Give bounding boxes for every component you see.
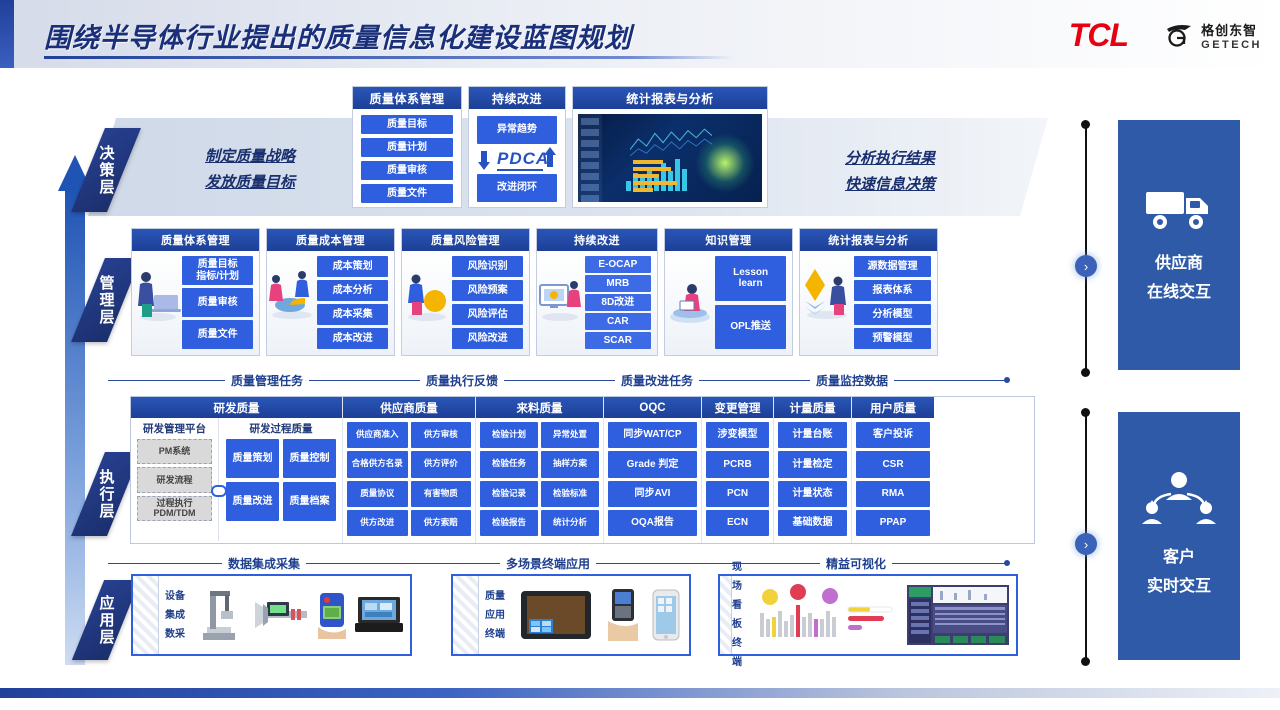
mgmt-chip[interactable]: OPL推送: [715, 305, 786, 350]
exec-gray-item[interactable]: 研发流程: [137, 467, 212, 492]
exec-col-oqc[interactable]: OQC 同步WAT/CP Grade 判定 同步AVI OQA报告: [604, 397, 702, 543]
exec-col-2-title: 供应商质量: [343, 397, 475, 418]
bottom-rail-end-dot: [1004, 560, 1010, 566]
execution-panel: 研发质量 研发管理平台 PM系统 研发流程 过程执行 PDM/TDM 研发过程质…: [130, 396, 1035, 544]
exec-chip[interactable]: PCN: [706, 481, 769, 507]
exec-chip[interactable]: PPAP: [856, 510, 930, 536]
mgmt-chip[interactable]: 质量文件: [182, 320, 253, 349]
laptop-device-icon: [354, 595, 404, 635]
decision-card-2-title: 持续改进: [469, 87, 565, 109]
getech-cn-label: 格创东智: [1201, 20, 1262, 39]
pdca-label: PDCA: [497, 149, 549, 169]
mgmt-chip[interactable]: 8D改进: [585, 294, 651, 311]
mgmt-card-knowledge[interactable]: 知识管理 Lesson learn OPL推送: [664, 228, 793, 356]
mgmt-chip[interactable]: MRB: [585, 275, 651, 292]
mid-rail-label: 质量管理任务: [225, 372, 309, 389]
app-box-1-label: 设备 集成 数采: [159, 576, 191, 654]
app-label-line: 设备: [165, 587, 185, 606]
exec-chip[interactable]: 计量检定: [778, 451, 847, 477]
cmm-machine-icon: [197, 587, 243, 643]
mgmt-chip[interactable]: 预警模型: [854, 328, 931, 349]
exec-col-user-quality[interactable]: 用户质量 客户投诉 CSR RMA PPAP: [852, 397, 934, 543]
right-rail-chevron-top[interactable]: ›: [1075, 255, 1097, 277]
decision-right-line1: 分析执行结果: [845, 150, 935, 167]
mgmt-card-6-title: 统计报表与分析: [800, 229, 937, 251]
exec-chip[interactable]: OQA报告: [608, 510, 697, 536]
decision-chip[interactable]: 质量目标: [361, 115, 453, 134]
exec-chip[interactable]: 异常处置: [541, 422, 599, 448]
exec-chip[interactable]: 检验报告: [480, 510, 538, 536]
exec-chip[interactable]: 检验计划: [480, 422, 538, 448]
app-box-device-integration[interactable]: 设备 集成 数采: [131, 574, 412, 656]
app-label-line: 现场: [732, 558, 746, 596]
slide-root: 围绕半导体行业提出的质量信息化建设蓝图规划 TCL 格创东智 GETECH 决策…: [0, 0, 1280, 710]
layer-label-management-text: 管理层: [98, 275, 114, 326]
mid-rail-end-dot: [1004, 377, 1010, 383]
exec-chip[interactable]: 供方改进: [347, 510, 408, 536]
handheld-tester-icon: [314, 591, 350, 639]
mgmt-chip[interactable]: 风险识别: [452, 256, 523, 277]
exec-chip[interactable]: 检验记录: [480, 481, 538, 507]
mgmt-chip[interactable]: 成本分析: [317, 280, 388, 301]
pdca-arrow-down-head: [478, 162, 490, 170]
mgmt-chip[interactable]: 成本改进: [317, 328, 388, 349]
decision-card-statistics-analysis[interactable]: 统计报表与分析: [572, 86, 768, 208]
right-panel-customer-text: 客户 实时交互: [1147, 544, 1211, 602]
mid-rail-label: 质量执行反馈: [420, 372, 504, 389]
decision-card-continuous-improvement[interactable]: 持续改进 异常趋势 改进闭环 PDCA: [468, 86, 566, 208]
right-panel-line2: 在线交互: [1147, 279, 1211, 308]
exec-chip[interactable]: 质量策划: [226, 439, 279, 478]
exec-col-7-title: 用户质量: [852, 397, 934, 418]
exec-chip[interactable]: 质量协议: [347, 481, 408, 507]
mgmt-chip[interactable]: 成本策划: [317, 256, 388, 277]
app-stripe: [133, 576, 159, 654]
decision-left-text: 制定质量战略 发放质量目标: [150, 144, 350, 195]
footer-white-strip: [0, 698, 1280, 710]
exec-chip[interactable]: 同步AVI: [608, 481, 697, 507]
decision-left-line2: 发放质量目标: [205, 174, 295, 191]
app-label-line: 应用: [485, 606, 505, 625]
app-label-line: 终端: [732, 634, 746, 672]
exec-chip[interactable]: PCRB: [706, 451, 769, 477]
people-network-icon: [1138, 470, 1220, 530]
mgmt-chip[interactable]: 分析模型: [854, 304, 931, 325]
exec-gray-item[interactable]: PM系统: [137, 439, 212, 464]
bar-chart-dashboard-icon: [752, 583, 902, 647]
exec-chip[interactable]: 检验标准: [541, 481, 599, 507]
exec-chip[interactable]: 供方审核: [411, 422, 472, 448]
mgmt-card-1-title: 质量体系管理: [132, 229, 259, 251]
exec-col-6-title: 计量质量: [774, 397, 851, 418]
bottom-rail-label: 多场景终端应用: [500, 555, 596, 572]
exec-col-5-title: 变更管理: [702, 397, 773, 418]
page-header: 围绕半导体行业提出的质量信息化建设蓝图规划 TCL 格创东智 GETECH: [0, 0, 1280, 68]
right-panel-line1: 客户: [1147, 544, 1211, 573]
exec-chip[interactable]: 质量改进: [226, 482, 279, 521]
mgmt-chip[interactable]: 风险评估: [452, 304, 523, 325]
diamond-layers-icon: [800, 251, 852, 355]
exec-sub-left-title: 研发管理平台: [131, 418, 218, 438]
tcl-logo: TCL: [1069, 17, 1128, 54]
right-rail-dot: [1081, 368, 1090, 377]
right-panel-line2: 实时交互: [1147, 573, 1211, 602]
exec-col-4-title: OQC: [604, 397, 701, 418]
exec-col-3-title: 来料质量: [476, 397, 603, 418]
mgmt-chip[interactable]: 成本采集: [317, 304, 388, 325]
app-box-3-label: 现场 看板 终端: [732, 576, 746, 654]
exec-chip[interactable]: 质量控制: [283, 439, 336, 478]
app-stripe: [720, 576, 732, 654]
right-rail-dot: [1081, 657, 1090, 666]
barcode-scanner-icon: [602, 587, 642, 643]
exec-col-1-title: 研发质量: [131, 397, 342, 418]
exec-chip[interactable]: 合格供方名录: [347, 451, 408, 477]
layer-label-execution-text: 执行层: [98, 469, 114, 520]
decision-right-line2: 快速信息决策: [845, 176, 935, 193]
decision-left-line1: 制定质量战略: [205, 148, 295, 165]
app-label-line: 终端: [485, 625, 505, 644]
exec-chip[interactable]: 计量台账: [778, 422, 847, 448]
mgmt-chip[interactable]: 质量目标 指标/计划: [182, 256, 253, 285]
mgmt-chip[interactable]: SCAR: [585, 332, 651, 349]
exec-chip[interactable]: RMA: [856, 481, 930, 507]
right-rail-chevron-bottom[interactable]: ›: [1075, 533, 1097, 555]
mgmt-chip[interactable]: Lesson learn: [715, 256, 786, 301]
decision-card-3-title: 统计报表与分析: [573, 87, 767, 109]
exec-chip[interactable]: 统计分析: [541, 510, 599, 536]
exec-gray-item[interactable]: 过程执行 PDM/TDM: [137, 496, 212, 521]
exec-chip[interactable]: 同步WAT/CP: [608, 422, 697, 448]
page-title: 围绕半导体行业提出的质量信息化建设蓝图规划: [44, 16, 632, 55]
app-box-shopfloor-kanban[interactable]: 现场 看板 终端: [718, 574, 1018, 656]
exec-chip[interactable]: 供方评价: [411, 451, 472, 477]
exec-chip[interactable]: 抽样方案: [541, 451, 599, 477]
layer-label-decision-text: 决策层: [98, 145, 114, 196]
right-rail-dot: [1081, 120, 1090, 129]
header-accent-bar: [0, 0, 14, 68]
exec-chip[interactable]: 客户投诉: [856, 422, 930, 448]
right-rail-dot: [1081, 408, 1090, 417]
decision-card-1-title: 质量体系管理: [353, 87, 461, 109]
bottom-rail-label: 精益可视化: [820, 555, 892, 572]
mgmt-card-3-title: 质量风险管理: [402, 229, 529, 251]
app-label-line: 质量: [485, 587, 505, 606]
monitor-person-icon: [537, 251, 583, 355]
rugged-tablet-icon: [519, 589, 593, 641]
mgmt-chip[interactable]: CAR: [585, 313, 651, 330]
mgmt-card-4-title: 持续改进: [537, 229, 657, 251]
app-label-line: 数采: [165, 625, 185, 644]
pdca-arrow-up-icon: [547, 155, 553, 167]
exec-col-change-mgmt[interactable]: 变更管理 涉变模型 PCRB PCN ECN: [702, 397, 774, 543]
right-panel-supplier[interactable]: 供应商 在线交互: [1118, 120, 1240, 370]
exec-col-incoming-quality[interactable]: 来料质量 检验计划 异常处置 检验任务 抽样方案 检验记录 检验标准 检验报告 …: [476, 397, 604, 543]
decision-card-quality-system[interactable]: 质量体系管理 质量目标 质量计划 质量审核 质量文件: [352, 86, 462, 208]
exec-chip[interactable]: 基础数据: [778, 510, 847, 536]
mgmt-card-quality-risk[interactable]: 质量风险管理 风险识别 风险预案 风险评估 风险改进: [401, 228, 530, 356]
decision-chip[interactable]: 质量文件: [361, 184, 453, 203]
mid-rail-label: 质量改进任务: [615, 372, 699, 389]
layer-label-application-text: 应用层: [98, 595, 114, 646]
mgmt-card-statistics[interactable]: 统计报表与分析 源数据管理 报表体系 分析模型 预警模型: [799, 228, 938, 356]
exec-chip[interactable]: 涉变模型: [706, 422, 769, 448]
smartphone-icon: [651, 588, 681, 642]
mgmt-chip[interactable]: 源数据管理: [854, 256, 931, 277]
truck-icon: [1144, 182, 1214, 234]
mgmt-chip[interactable]: E-OCAP: [585, 256, 651, 273]
mgmt-card-2-title: 质量成本管理: [267, 229, 394, 251]
mid-rail-label: 质量监控数据: [810, 372, 894, 389]
getech-mark-icon: [1165, 22, 1195, 48]
right-rail-line-top: [1085, 124, 1087, 374]
upward-flow-arrow: [58, 155, 92, 665]
right-panel-supplier-text: 供应商 在线交互: [1147, 250, 1211, 308]
title-underline: [44, 56, 734, 59]
exec-col-supplier-quality[interactable]: 供应商质量 供应商准入 供方审核 合格供方名录 供方评价 质量协议 有害物质 供…: [343, 397, 476, 543]
app-label-line: 看板: [732, 596, 746, 634]
right-panel-customer[interactable]: 客户 实时交互: [1118, 412, 1240, 660]
mgmt-chip[interactable]: 质量审核: [182, 288, 253, 317]
exec-chip[interactable]: 质量档案: [283, 482, 336, 521]
exec-chip[interactable]: 有害物质: [411, 481, 472, 507]
mgmt-card-quality-system[interactable]: 质量体系管理 质量目标 指标/计划 质量审核 质量文件: [131, 228, 260, 356]
exec-chip[interactable]: ECN: [706, 510, 769, 536]
getech-en-label: GETECH: [1201, 39, 1262, 51]
decision-chip[interactable]: 改进闭环: [477, 174, 557, 202]
mgmt-chip[interactable]: 报表体系: [854, 280, 931, 301]
exec-chip[interactable]: 供方索赔: [411, 510, 472, 536]
mgmt-chip[interactable]: 风险预案: [452, 280, 523, 301]
app-box-2-label: 质量 应用 终端: [479, 576, 511, 654]
app-box-quality-terminal[interactable]: 质量 应用 终端: [451, 574, 691, 656]
mgmt-card-5-title: 知识管理: [665, 229, 792, 251]
mgmt-card-continuous-improvement[interactable]: 持续改进 E-OCAP MRB 8D改进 CAR SCAR: [536, 228, 658, 356]
exec-chip[interactable]: Grade 判定: [608, 451, 697, 477]
exec-col-metrology-quality[interactable]: 计量质量 计量台账 计量检定 计量状态 基础数据: [774, 397, 852, 543]
decision-chip[interactable]: 质量审核: [361, 161, 453, 180]
exec-chip[interactable]: CSR: [856, 451, 930, 477]
mgmt-card-quality-cost[interactable]: 质量成本管理 成本策划 成本分析 成本采集 成本改进: [266, 228, 395, 356]
app-label-line: 集成: [165, 606, 185, 625]
exec-chip[interactable]: 计量状态: [778, 481, 847, 507]
exec-chip[interactable]: 检验任务: [480, 451, 538, 477]
decision-right-text: 分析执行结果 快速信息决策: [790, 146, 990, 197]
pie-chart-people-icon: [267, 251, 315, 355]
caliper-icon: [247, 598, 309, 632]
kanban-screen-icon: [906, 584, 1010, 646]
dashboard-preview-image: [578, 114, 762, 202]
exec-chip[interactable]: 供应商准入: [347, 422, 408, 448]
bottom-rail-label: 数据集成采集: [222, 555, 306, 572]
decision-chip[interactable]: 异常趋势: [477, 116, 557, 144]
getech-logo: 格创东智 GETECH: [1201, 20, 1262, 51]
exec-col-rd-quality[interactable]: 研发质量 研发管理平台 PM系统 研发流程 过程执行 PDM/TDM 研发过程质…: [131, 397, 343, 543]
decision-chip[interactable]: 质量计划: [361, 138, 453, 157]
person-laptop-icon: [132, 251, 180, 355]
app-stripe: [453, 576, 479, 654]
right-panel-line1: 供应商: [1147, 250, 1211, 279]
exec-sub-right-title: 研发过程质量: [220, 418, 342, 438]
person-lock-icon: [402, 251, 450, 355]
person-book-icon: [665, 251, 713, 355]
pdca-arrow-up-head: [544, 147, 556, 155]
mgmt-chip[interactable]: 风险改进: [452, 328, 523, 349]
